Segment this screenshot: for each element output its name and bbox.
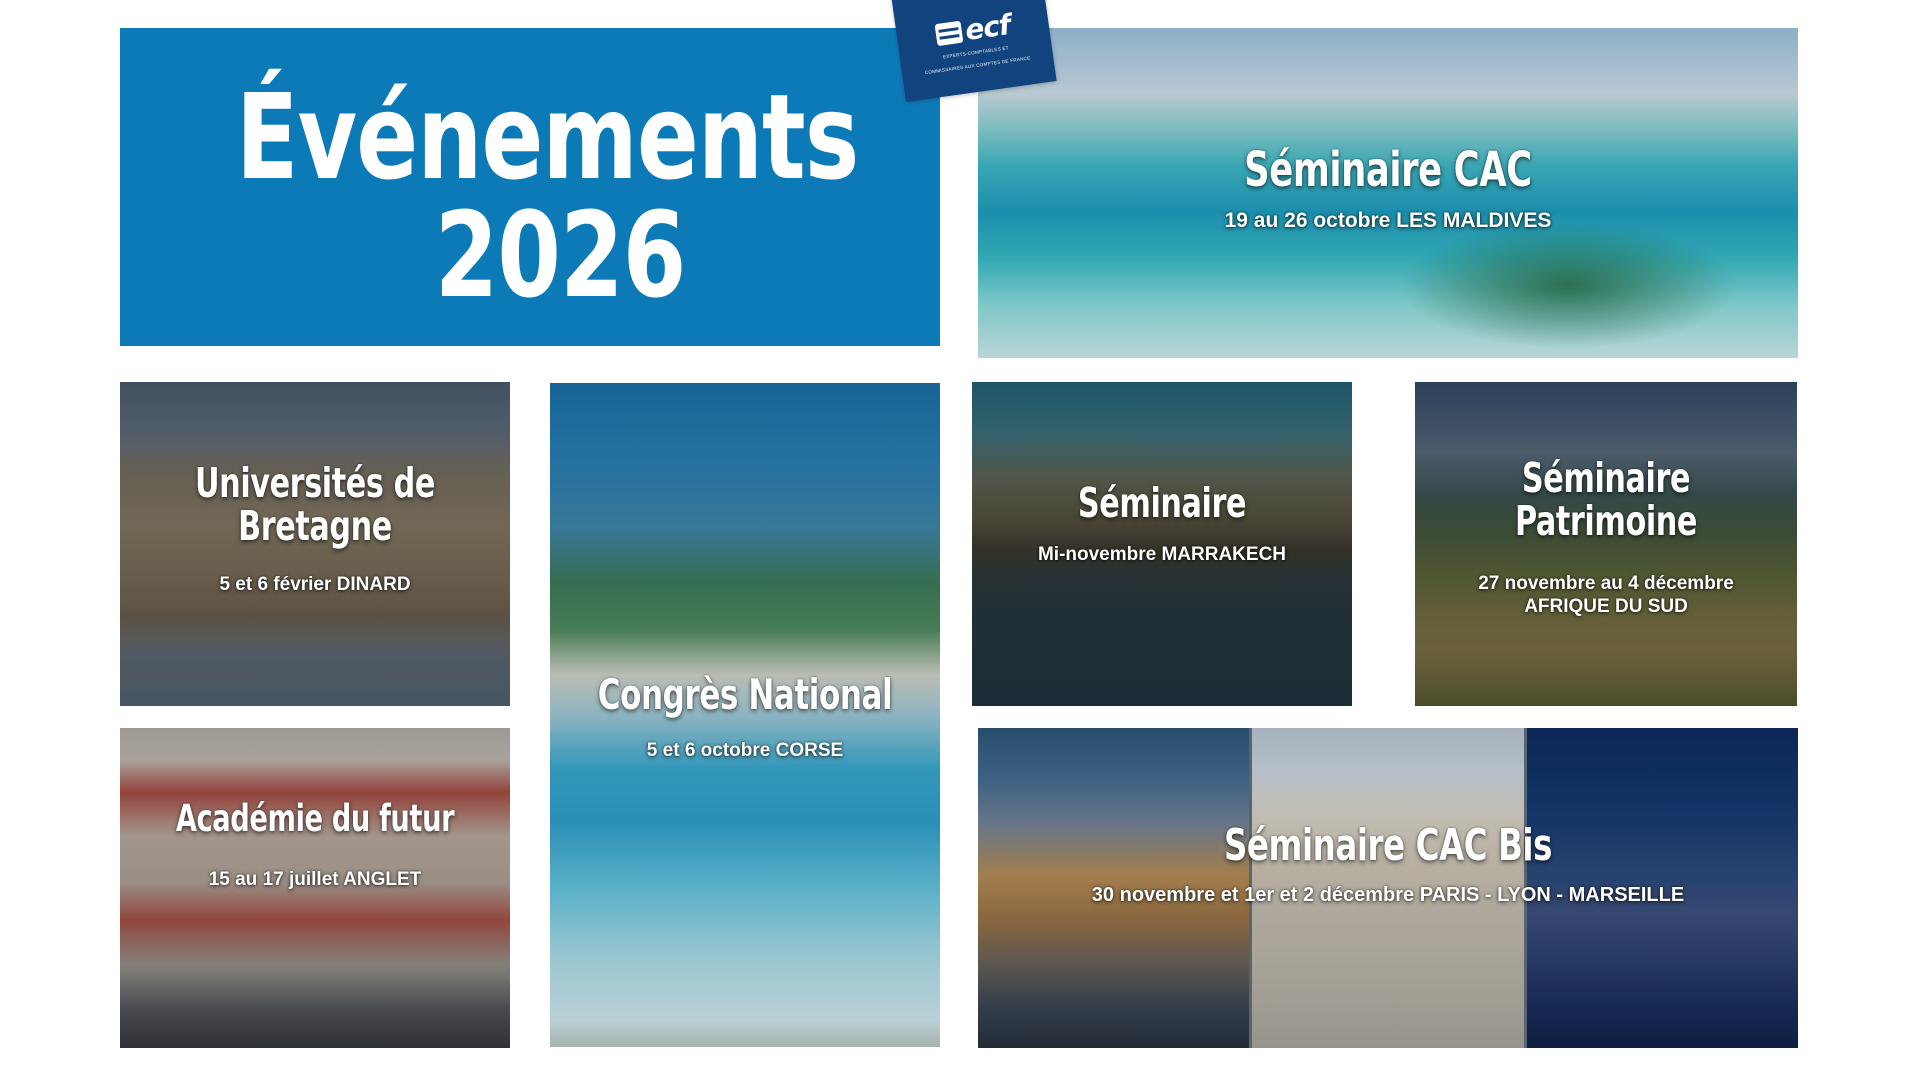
event-details-line1: 27 novembre au 4 décembre	[1425, 572, 1787, 595]
poster-title-block: Événements 2026	[120, 28, 940, 346]
event-details: 19 au 26 octobre LES MALDIVES	[988, 208, 1788, 234]
poster-canvas: Événements 2026 ecf EXPERTS-COMPTABLES E…	[0, 0, 1920, 1080]
event-card-patrimoine[interactable]: Séminaire Patrimoine 27 novembre au 4 dé…	[1415, 382, 1797, 706]
ecf-logo-mark-icon	[934, 21, 963, 46]
page-title-line1: Événements	[177, 78, 882, 196]
ecf-logo: ecf EXPERTS-COMPTABLES ET COMMISSAIRES A…	[896, 6, 1054, 80]
event-details: 30 novembre et 1er et 2 décembre PARIS -…	[988, 883, 1788, 907]
card-caption: Académie du futur 15 au 17 juillet ANGLE…	[120, 800, 510, 892]
event-card-marrakech[interactable]: Séminaire Mi-novembre MARRAKECH	[972, 382, 1352, 706]
page-title-line2: 2026	[177, 196, 882, 314]
card-caption: Séminaire CAC Bis 30 novembre et 1er et …	[978, 823, 1798, 907]
event-title: Séminaire CAC	[1060, 146, 1716, 196]
event-title: Congrès National	[593, 673, 896, 717]
event-details: 5 et 6 octobre CORSE	[560, 739, 930, 762]
event-title: Séminaire	[1014, 482, 1309, 525]
event-card-bretagne[interactable]: Universités de Bretagne 5 et 6 février D…	[120, 382, 510, 706]
event-title: Séminaire Patrimoine	[1458, 457, 1755, 542]
event-card-anglet[interactable]: Académie du futur 15 au 17 juillet ANGLE…	[120, 728, 510, 1048]
event-details: 5 et 6 février DINARD	[130, 573, 500, 596]
event-card-cac-bis[interactable]: Séminaire CAC Bis 30 novembre et 1er et …	[978, 728, 1798, 1048]
event-title: Séminaire CAC Bis	[1060, 823, 1716, 869]
event-card-corse[interactable]: Congrès National 5 et 6 octobre CORSE	[550, 383, 940, 1047]
card-caption: Universités de Bretagne 5 et 6 février D…	[120, 462, 510, 596]
card-caption: Séminaire Mi-novembre MARRAKECH	[972, 482, 1352, 566]
page-title: Événements 2026	[177, 78, 882, 314]
event-details: Mi-novembre MARRAKECH	[982, 543, 1342, 566]
card-caption: Séminaire CAC 19 au 26 octobre LES MALDI…	[978, 146, 1798, 234]
card-caption: Séminaire Patrimoine 27 novembre au 4 dé…	[1415, 457, 1797, 619]
event-details-line2: AFRIQUE DU SUD	[1425, 595, 1787, 618]
ecf-wordmark: ecf	[963, 11, 1011, 45]
event-title: Universités de Bretagne	[163, 462, 466, 547]
event-title: Académie du futur	[163, 800, 466, 838]
event-details: 27 novembre au 4 décembre AFRIQUE DU SUD	[1425, 572, 1787, 618]
card-caption: Congrès National 5 et 6 octobre CORSE	[550, 673, 940, 762]
event-card-maldives[interactable]: Séminaire CAC 19 au 26 octobre LES MALDI…	[978, 28, 1798, 358]
event-details: 15 au 17 juillet ANGLET	[130, 868, 500, 891]
